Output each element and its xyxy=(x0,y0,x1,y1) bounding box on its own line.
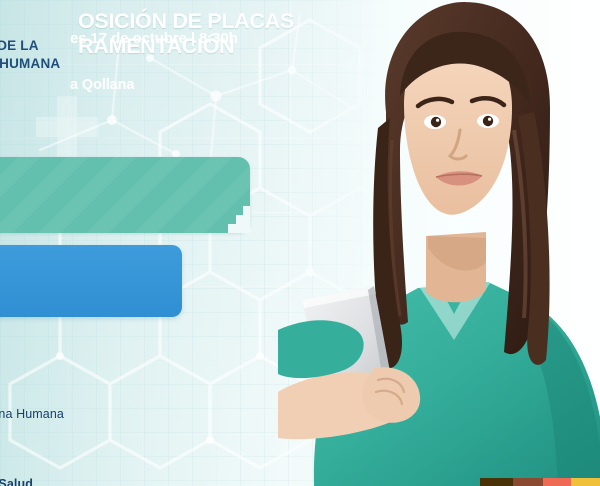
accent-segment-coral-red xyxy=(543,478,571,486)
event-date: es 17 de octubre | 8:30h xyxy=(70,30,260,49)
event-poster: OCIÓN DE LA DICINA HUMANA OSICIÓN DE PLA… xyxy=(0,0,600,486)
accent-color-bar xyxy=(480,478,600,486)
student-photo xyxy=(278,0,600,486)
title-band-sheen xyxy=(0,157,250,233)
accent-segment-golden-yellow xyxy=(571,478,600,486)
organizer-block: de Medicina Humana cultad de ncias de Sa… xyxy=(0,388,194,486)
organizer-line-2: cultad de xyxy=(0,441,194,457)
accent-segment-brick-brown xyxy=(513,478,543,486)
event-info-band xyxy=(0,245,182,317)
organizer-line-1: de Medicina Humana xyxy=(0,406,194,422)
title-band xyxy=(0,157,250,233)
accent-segment-dark-brown xyxy=(480,478,513,486)
stair-step-notch xyxy=(218,205,250,233)
event-info-text: es 17 de octubre | 8:30h a Qollana xyxy=(70,12,260,112)
event-location: a Qollana xyxy=(70,76,260,94)
organizer-line-3: ncias de Salud xyxy=(0,476,194,486)
